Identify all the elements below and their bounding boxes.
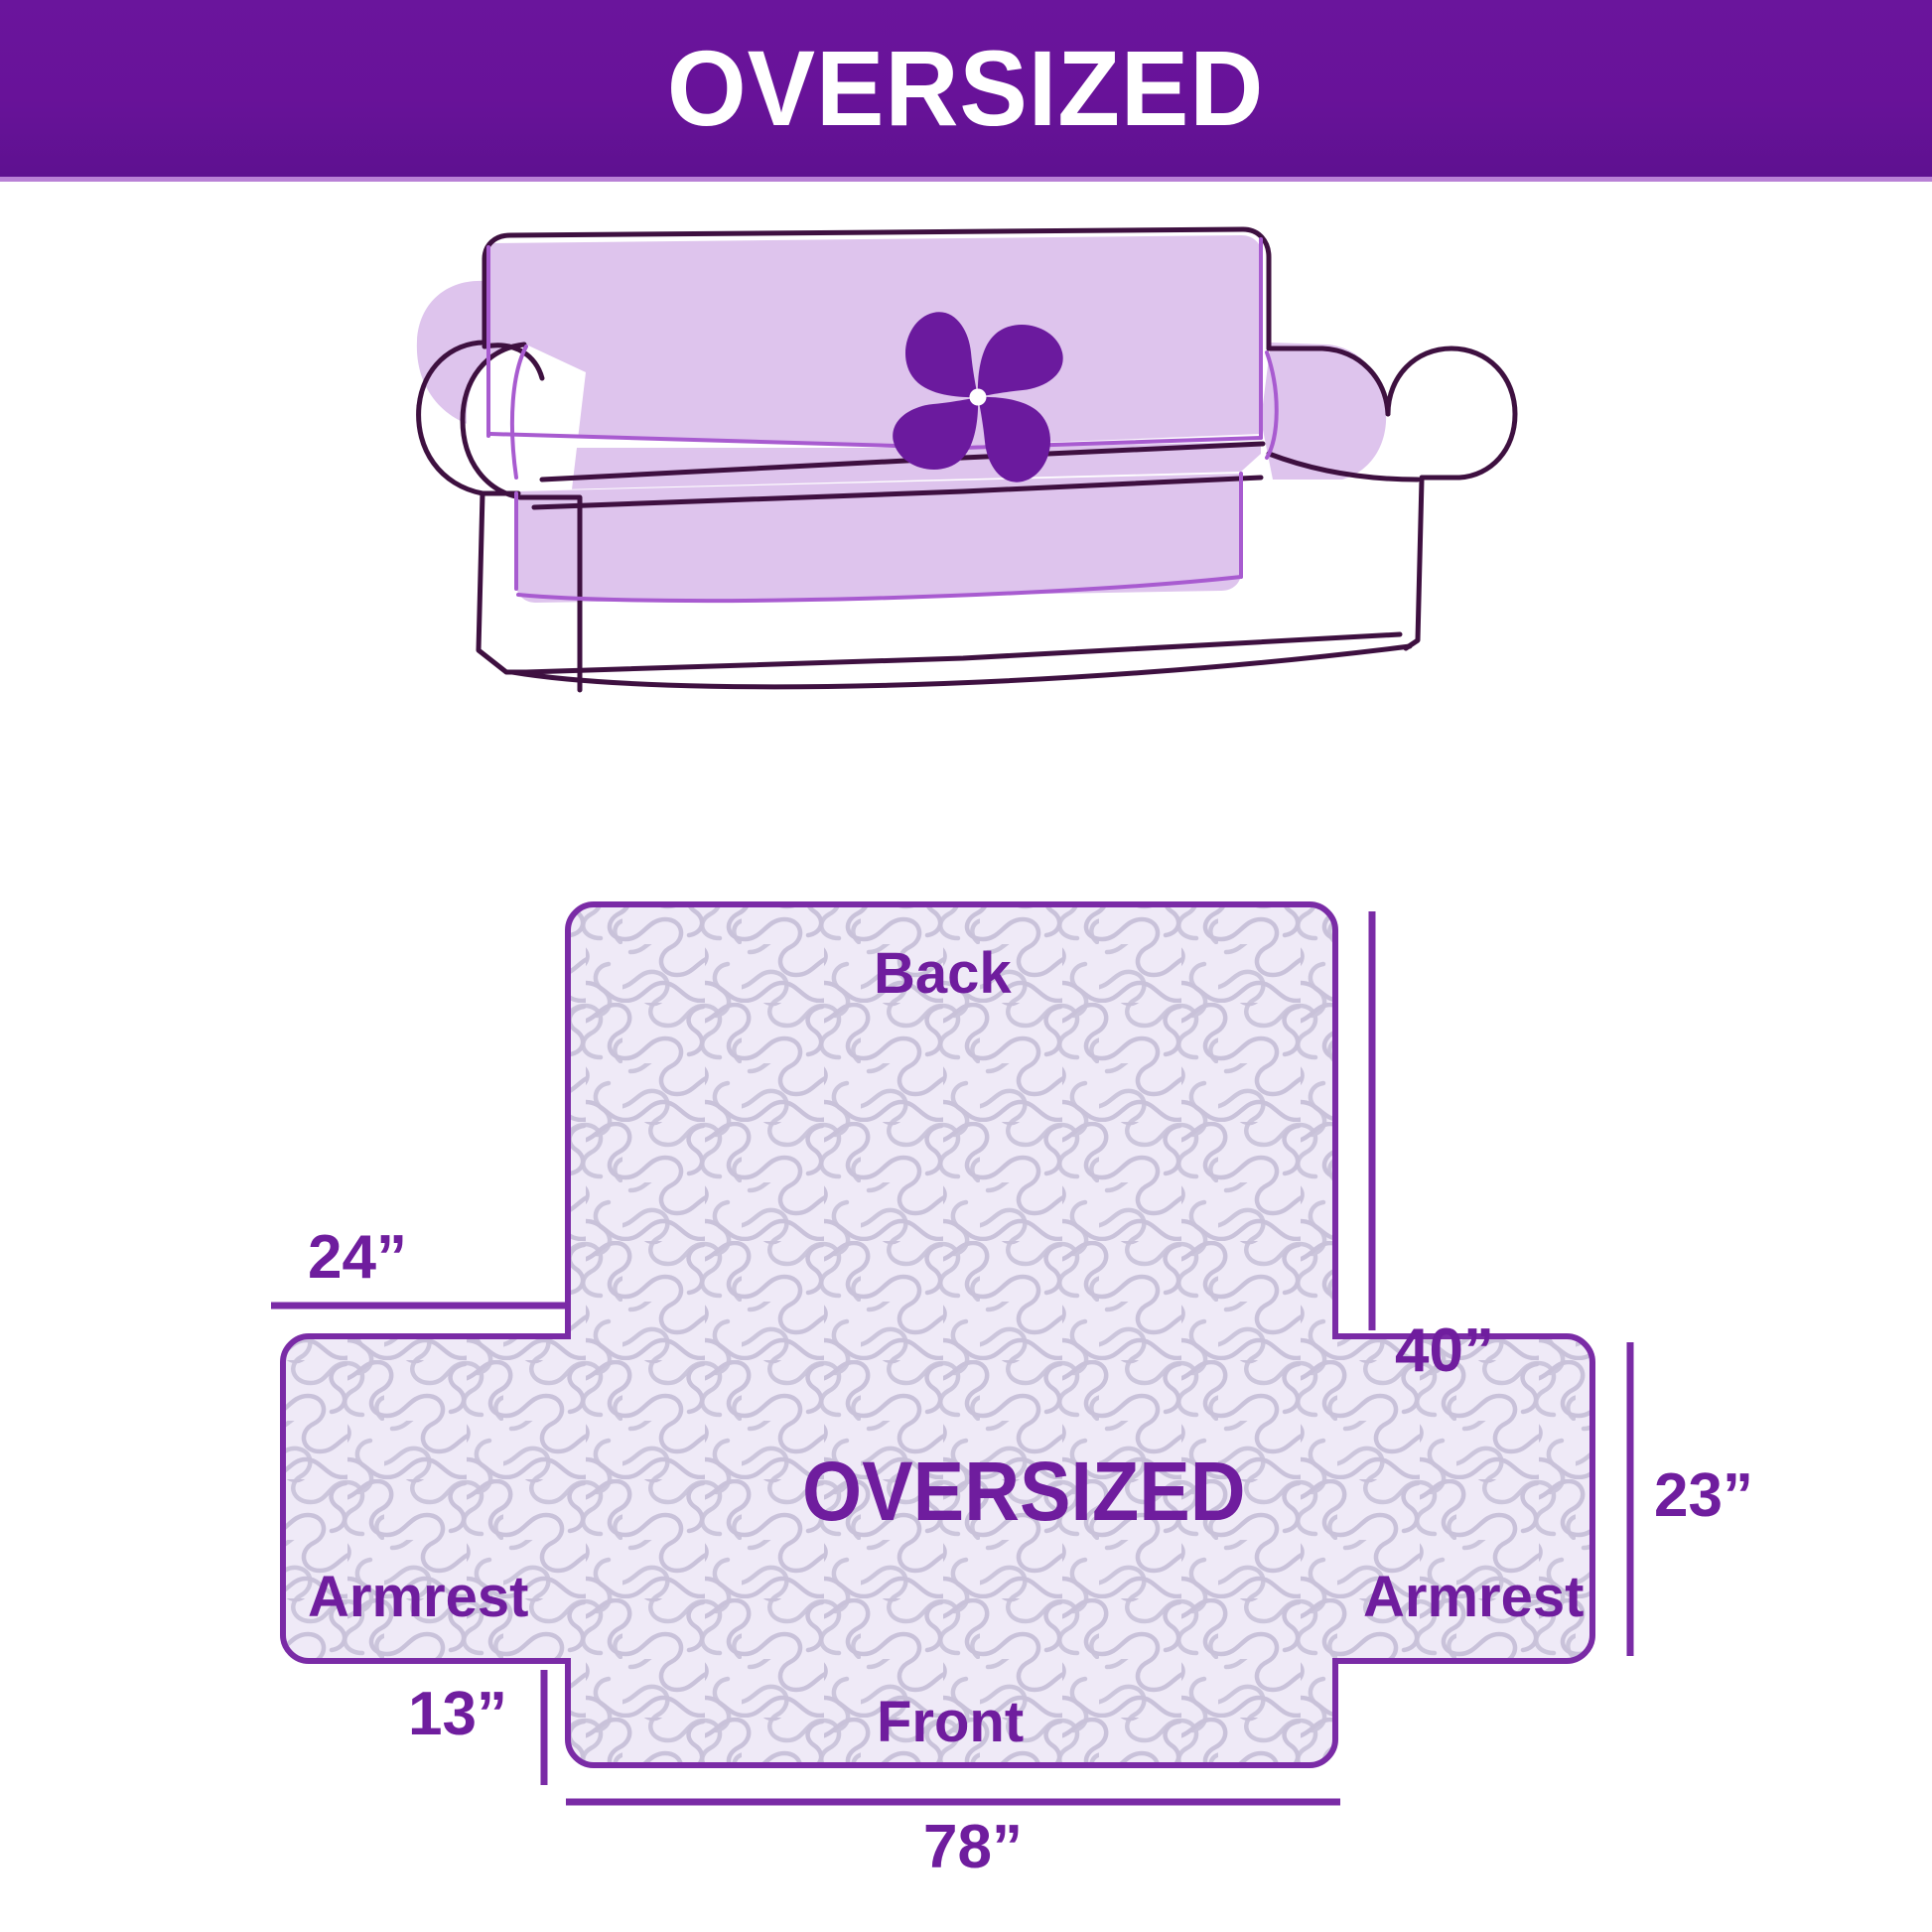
dimension-label-total-width: 78”	[923, 1817, 1023, 1878]
diagram-center-label: OVERSIZED	[802, 1449, 1246, 1533]
dimension-label-back-height: 40”	[1395, 1320, 1494, 1382]
dimension-label-inset: 24”	[308, 1227, 407, 1289]
sofa-illustration	[367, 223, 1588, 695]
header-banner: OVERSIZED	[0, 0, 1932, 177]
dimension-label-front-skirt: 13”	[408, 1684, 507, 1745]
page-title: OVERSIZED	[667, 35, 1264, 142]
panel-label-front: Front	[877, 1694, 1024, 1751]
sofa-drawing	[367, 223, 1588, 695]
slipcover-flat-diagram: 40” 24” 23” 13” 78” Back Front Armrest A…	[228, 884, 1777, 1886]
panel-label-armrest-right: Armrest	[1363, 1569, 1584, 1626]
panel-label-back: Back	[874, 945, 1012, 1003]
panel-label-armrest-left: Armrest	[308, 1569, 528, 1626]
backrest-cover	[488, 235, 1263, 446]
dimension-label-armrest-depth: 23”	[1654, 1465, 1753, 1527]
header-underline-divider	[0, 177, 1932, 182]
pinwheel-center-dot	[970, 389, 987, 406]
